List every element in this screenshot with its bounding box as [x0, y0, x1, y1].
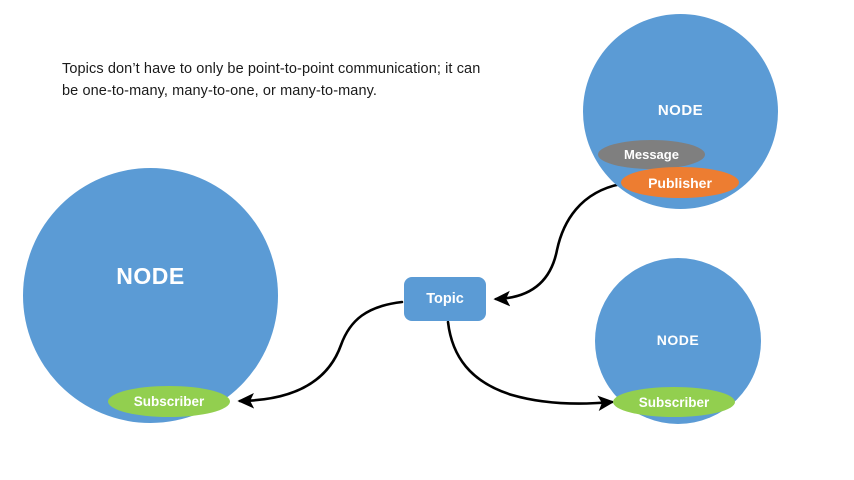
caption-text: Topics don’t have to only be point-to-po… [62, 58, 482, 103]
topic-label: Topic [426, 291, 464, 307]
subscriber-label-right: Subscriber [639, 395, 710, 410]
node-label-top-right: NODE [583, 102, 778, 119]
message-ellipse[interactable]: Message [598, 140, 705, 169]
subscriber-label-left: Subscriber [134, 394, 205, 409]
subscriber-ellipse-left[interactable]: Subscriber [108, 386, 230, 417]
node-label-bottom-right: NODE [595, 332, 761, 348]
slide-canvas: Topics don’t have to only be point-to-po… [0, 0, 854, 480]
topic-box[interactable]: Topic [404, 277, 486, 321]
arrow-publisher-to-topic [496, 184, 621, 299]
node-circle-left[interactable]: NODE [23, 168, 278, 423]
message-label: Message [624, 147, 679, 162]
arrow-topic-to-subscriber-right [448, 322, 612, 404]
publisher-ellipse[interactable]: Publisher [621, 167, 739, 198]
node-label-left: NODE [23, 263, 278, 290]
publisher-label: Publisher [648, 175, 712, 191]
subscriber-ellipse-right[interactable]: Subscriber [613, 387, 735, 417]
